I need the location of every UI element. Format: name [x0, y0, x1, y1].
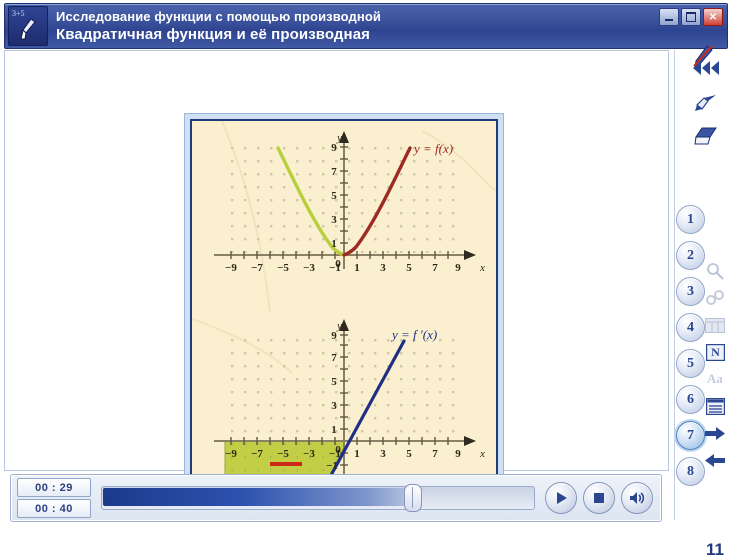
- formula-icon: N: [706, 344, 725, 361]
- chart-function-svg: −9−7−5 −3−1 135 79 135 79 0 y x y = f(x): [192, 121, 496, 313]
- svg-text:−3: −3: [303, 262, 315, 274]
- svg-text:5: 5: [406, 262, 412, 274]
- chart-derivative-yaxis-label: y: [336, 320, 342, 332]
- pen-tool-button[interactable]: [690, 90, 722, 114]
- svg-text:−1: −1: [326, 460, 338, 472]
- progress-slider[interactable]: [101, 486, 535, 510]
- total-time: 00 : 40: [17, 499, 91, 518]
- next-button[interactable]: [704, 424, 726, 442]
- formula-button[interactable]: N: [704, 343, 726, 361]
- playback-buttons: [545, 482, 655, 514]
- page-number: 11: [700, 540, 730, 560]
- svg-text:−5: −5: [277, 448, 289, 460]
- slide-canvas: −9−7−5 −3−1 135 79 135 79 0 y x y = f(x): [4, 50, 669, 471]
- minimize-button[interactable]: [659, 8, 679, 26]
- svg-text:9: 9: [455, 262, 461, 274]
- svg-text:−7: −7: [251, 262, 263, 274]
- chart-derivative-series-label: y = f ′(x): [390, 327, 437, 342]
- window-controls: ✕: [659, 4, 727, 48]
- chart-derivative-xaxis-label: x: [479, 448, 485, 460]
- chart-function-yaxis-label: y: [336, 132, 342, 144]
- settings-icon: [705, 290, 725, 306]
- svg-text:3: 3: [331, 400, 337, 412]
- brush-icon: [18, 19, 37, 41]
- application-window: 3+5 Исследование функции с помощью произ…: [0, 0, 730, 550]
- svg-text:1: 1: [331, 238, 337, 250]
- svg-text:7: 7: [331, 166, 337, 178]
- top-tools: [686, 56, 726, 148]
- svg-text:−9: −9: [225, 262, 237, 274]
- volume-button[interactable]: [621, 482, 653, 514]
- volume-icon: [629, 491, 645, 505]
- svg-text:3: 3: [331, 214, 337, 226]
- slide-frame: −9−7−5 −3−1 135 79 135 79 0 y x y = f(x): [184, 113, 332, 521]
- window-title-primary: Исследование функции с помощью производн…: [56, 9, 659, 25]
- chart-function-xaxis-label: x: [479, 262, 485, 274]
- app-icon: 3+5: [8, 6, 48, 46]
- svg-text:3: 3: [380, 262, 386, 274]
- table-button[interactable]: [704, 316, 726, 334]
- next-arrow-icon: [705, 426, 725, 441]
- text-icon: Aa: [707, 371, 723, 387]
- maximize-icon: [686, 12, 696, 22]
- minimize-icon: [665, 19, 673, 21]
- slide-button-1[interactable]: 1: [676, 205, 705, 234]
- svg-text:0: 0: [335, 258, 341, 270]
- svg-text:−5: −5: [277, 262, 289, 274]
- svg-text:−3: −3: [303, 448, 315, 460]
- progress-fill: [103, 488, 413, 506]
- play-button[interactable]: [545, 482, 577, 514]
- title-bar: 3+5 Исследование функции с помощью произ…: [4, 3, 728, 49]
- svg-text:1: 1: [354, 448, 360, 460]
- svg-text:7: 7: [432, 448, 438, 460]
- progress-thumb[interactable]: [404, 484, 422, 512]
- title-text-block: Исследование функции с помощью производн…: [52, 4, 659, 48]
- svg-text:5: 5: [406, 448, 412, 460]
- prev-arrow-icon: [705, 453, 725, 468]
- media-player-bar: 00 : 29 00 : 40: [10, 474, 662, 522]
- svg-text:7: 7: [331, 352, 337, 364]
- rewind-button[interactable]: [690, 56, 722, 80]
- close-button[interactable]: ✕: [703, 8, 723, 26]
- play-icon: [554, 491, 568, 505]
- secondary-icon-column: N Aa: [700, 262, 730, 469]
- stop-icon: [593, 492, 605, 504]
- settings-button[interactable]: [704, 289, 726, 307]
- svg-text:−7: −7: [251, 448, 263, 460]
- current-time: 00 : 29: [17, 478, 91, 497]
- svg-text:−9: −9: [225, 448, 237, 460]
- slide-inner-area: −9−7−5 −3−1 135 79 135 79 0 y x y = f(x): [190, 119, 498, 515]
- app-icon-formula: 3+5: [12, 9, 25, 18]
- list-button[interactable]: [704, 397, 726, 415]
- chart-function: −9−7−5 −3−1 135 79 135 79 0 y x y = f(x): [192, 121, 496, 313]
- svg-text:7: 7: [432, 262, 438, 274]
- rewind-icon: [693, 60, 719, 76]
- svg-text:1: 1: [331, 424, 337, 436]
- eraser-tool-button[interactable]: [690, 124, 722, 148]
- zoom-icon: [706, 262, 724, 280]
- prev-button[interactable]: [704, 451, 726, 469]
- list-icon: [706, 398, 725, 415]
- maximize-button[interactable]: [681, 8, 701, 26]
- svg-text:N: N: [711, 345, 720, 359]
- svg-text:1: 1: [354, 262, 360, 274]
- svg-text:5: 5: [331, 376, 337, 388]
- svg-text:5: 5: [331, 190, 337, 202]
- table-icon: [705, 318, 725, 333]
- svg-text:0: 0: [335, 444, 341, 456]
- pen-icon: [694, 92, 718, 112]
- stop-button[interactable]: [583, 482, 615, 514]
- window-title-secondary: Квадратичная функция и её производная: [56, 25, 659, 44]
- svg-text:9: 9: [455, 448, 461, 460]
- right-toolbar: 1 2 3 4 5 6 7 8: [670, 50, 730, 550]
- zoom-button[interactable]: [704, 262, 726, 280]
- chart-function-series-label: y = f(x): [412, 141, 453, 156]
- eraser-icon: [694, 126, 718, 146]
- svg-text:3: 3: [380, 448, 386, 460]
- time-display: 00 : 29 00 : 40: [17, 478, 91, 518]
- text-button[interactable]: Aa: [704, 370, 726, 388]
